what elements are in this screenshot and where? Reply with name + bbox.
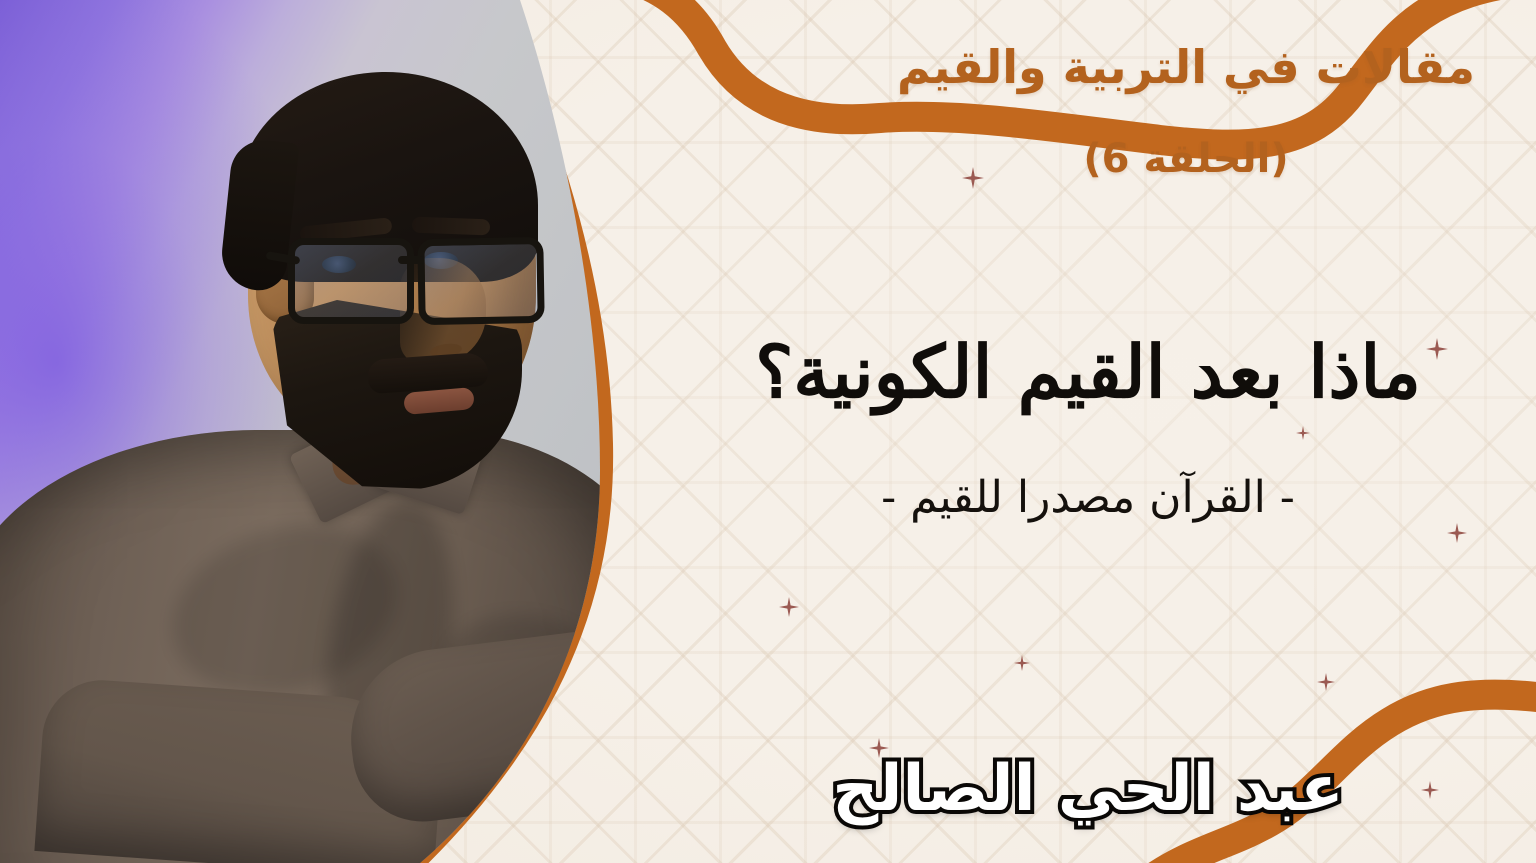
headline-question: ماذا بعد القيم الكونية؟ [660, 330, 1516, 415]
author-name: عبد الحي الصالح [660, 752, 1516, 826]
eyeglasses [272, 226, 552, 326]
text-panel: مقالات في التربية والقيم (الحلقة 6) ماذا… [640, 0, 1536, 863]
headline-subtitle: - القرآن مصدرا للقيم - [660, 472, 1516, 523]
eyeglass-bridge [398, 256, 424, 264]
series-title: مقالات في التربية والقيم [876, 42, 1496, 94]
speaker-portrait [0, 0, 700, 863]
portrait-person [0, 0, 700, 863]
episode-label: (الحلقة 6) [876, 136, 1496, 182]
thumbnail-canvas: مقالات في التربية والقيم (الحلقة 6) ماذا… [0, 0, 1536, 863]
eyeglass-lens-right [417, 237, 544, 325]
portrait-clip [0, 0, 700, 863]
eyeglass-lens-left [288, 238, 414, 324]
